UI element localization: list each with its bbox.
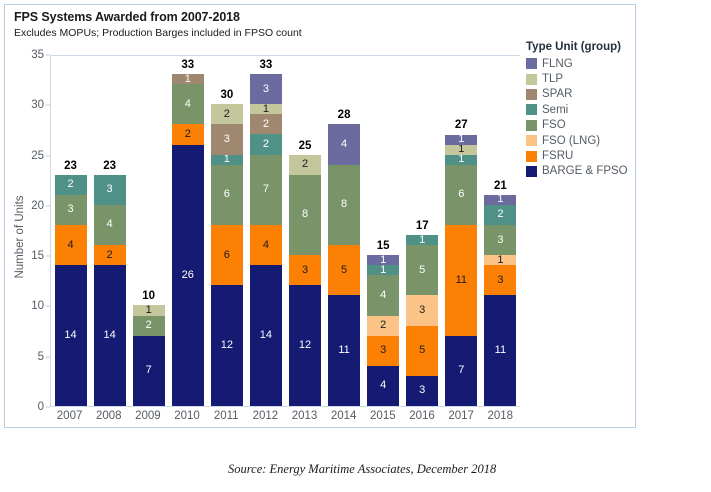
y-axis: Number of Units 05101520253035 [5, 55, 50, 407]
bar-segment[interactable]: 6 [211, 165, 243, 225]
y-axis-tick-label: 25 [31, 150, 44, 162]
bar-segment[interactable]: 3 [406, 295, 438, 325]
bar-segment[interactable]: 1 [445, 135, 477, 145]
bar-total-label: 33 [181, 59, 194, 71]
bar-segment-label: 4 [341, 139, 347, 150]
bar-column[interactable]: 2314243 [94, 56, 126, 406]
bar-stack: 14243 [94, 175, 126, 406]
bar-segment-label: 11 [338, 345, 349, 356]
bar-segment-label: 4 [67, 240, 73, 251]
bar-segment-label: 2 [146, 320, 152, 331]
bar-stack: 721 [133, 305, 165, 406]
bar-segment[interactable]: 4 [367, 275, 399, 315]
bar-segment[interactable]: 5 [406, 326, 438, 376]
bar-segment[interactable]: 3 [55, 195, 87, 225]
bar-segment[interactable]: 4 [250, 225, 282, 265]
bar-segment-label: 3 [302, 265, 308, 276]
legend-item-label: FSO (LNG) [542, 135, 600, 147]
x-axis-tick-label: 2007 [54, 407, 86, 422]
legend-item[interactable]: FSO (LNG) [526, 133, 636, 148]
bar-segment-label: 1 [458, 155, 464, 165]
bar-column[interactable]: 2314432 [55, 56, 87, 406]
bar-segment-label: 1 [185, 74, 191, 84]
bar-segment[interactable]: 4 [328, 124, 360, 164]
legend-item-label: FSRU [542, 150, 573, 162]
x-axis-tick-label: 2009 [132, 407, 164, 422]
bar-segment-label: 12 [221, 340, 233, 351]
bar-segment[interactable]: 14 [94, 265, 126, 406]
bar-segment[interactable]: 7 [250, 155, 282, 225]
bar-segment[interactable]: 2 [289, 155, 321, 175]
bar-segment[interactable]: 12 [289, 285, 321, 406]
legend-swatch-icon [526, 151, 537, 162]
y-axis-tick-label: 15 [31, 250, 44, 262]
x-axis-tick-label: 2008 [93, 407, 125, 422]
bar-stack: 12382 [289, 155, 321, 406]
bar-segment[interactable]: 3 [406, 376, 438, 406]
plot-area: 2314432231424310721332624130126613233144… [50, 55, 520, 407]
legend-item-label: BARGE & FPSO [542, 165, 628, 177]
legend-item-label: FSO [542, 119, 566, 131]
bar-segment-label: 3 [380, 345, 386, 356]
bar-column[interactable]: 2811584 [328, 56, 360, 406]
bar-segment[interactable]: 1 [367, 265, 399, 275]
x-axis-tick-label: 2010 [171, 407, 203, 422]
bar-segment-label: 4 [380, 290, 386, 301]
bar-segment[interactable]: 5 [328, 245, 360, 295]
bar-segment[interactable]: 2 [484, 205, 516, 225]
bar-segment-label: 1 [146, 305, 152, 315]
bar-column[interactable]: 301266132 [211, 56, 243, 406]
bar-segment[interactable]: 1 [406, 235, 438, 245]
bar-segment[interactable]: 1 [484, 255, 516, 265]
y-axis-tick-label: 35 [31, 49, 44, 61]
bar-segment[interactable]: 2 [211, 104, 243, 124]
bar-total-label: 21 [494, 180, 507, 192]
bar-segment-label: 4 [107, 219, 113, 230]
bar-segment-label: 3 [224, 134, 230, 145]
bar-segment[interactable]: 8 [289, 175, 321, 255]
legend-item[interactable]: SPAR [526, 87, 636, 102]
bar-segment-label: 5 [419, 265, 425, 276]
bar-segment[interactable]: 4 [367, 366, 399, 406]
source-note: Source: Energy Maritime Associates, Dece… [228, 462, 496, 477]
bar-segment[interactable]: 2 [172, 124, 204, 144]
bar-stack: 7116111 [445, 134, 477, 406]
chart-container: FPS Systems Awarded from 2007-2018 Exclu… [4, 4, 636, 428]
bar-segment-label: 2 [185, 129, 191, 140]
bar-segment[interactable]: 4 [55, 225, 87, 265]
bar-segment[interactable]: 14 [55, 265, 87, 406]
bar-stack: 1266132 [211, 104, 243, 406]
bar-segment-label: 1 [380, 265, 386, 275]
bar-segment-label: 6 [224, 189, 230, 200]
bar-segment-label: 1 [497, 195, 503, 205]
bar-segment-label: 12 [299, 340, 311, 351]
bar-segment[interactable]: 6 [211, 225, 243, 285]
legend-item-label: TLP [542, 73, 563, 85]
bar-segment-label: 2 [380, 320, 386, 331]
bar-segment-label: 7 [146, 365, 152, 376]
chart-legend: Type Unit (group) FLNGTLPSPARSemiFSOFSO … [526, 41, 636, 179]
bar-total-label: 27 [455, 119, 468, 131]
bar-segment-label: 3 [419, 385, 425, 396]
bar-total-label: 10 [142, 290, 155, 302]
bar-segment-label: 2 [263, 139, 269, 150]
bar-segment[interactable]: 4 [172, 84, 204, 124]
bar-segment-label: 6 [224, 250, 230, 261]
bar-segment-label: 1 [458, 135, 464, 145]
x-axis-tick-label: 2017 [445, 407, 477, 422]
legend-item[interactable]: BARGE & FPSO [526, 164, 636, 179]
bar-segment-label: 6 [458, 189, 464, 200]
x-axis-tick-label: 2016 [406, 407, 438, 422]
bar-segment-label: 1 [419, 235, 425, 245]
bar-segment[interactable]: 11 [328, 295, 360, 406]
bar-segment-label: 2 [263, 119, 269, 130]
x-axis-tick-label: 2014 [328, 407, 360, 422]
bar-segment-label: 14 [64, 330, 76, 341]
y-axis-tick-label: 20 [31, 200, 44, 212]
bar-segment[interactable]: 2 [94, 245, 126, 265]
bar-segment[interactable]: 7 [133, 336, 165, 406]
bar-segment-label: 3 [497, 275, 503, 286]
bar-segment-label: 4 [380, 380, 386, 391]
bar-segment[interactable]: 1 [211, 155, 243, 165]
bar-column[interactable]: 10721 [133, 56, 165, 406]
bar-segment[interactable]: 1 [172, 74, 204, 84]
bar-segment[interactable]: 1 [367, 255, 399, 265]
bar-segment[interactable]: 14 [250, 265, 282, 406]
bar-segment[interactable]: 2 [250, 134, 282, 154]
y-axis-tick-label: 30 [31, 99, 44, 111]
bar-segment[interactable]: 26 [172, 145, 204, 406]
bar-segment[interactable]: 1 [445, 155, 477, 165]
bar-segment-label: 11 [456, 275, 467, 286]
bar-segment[interactable]: 2 [133, 316, 165, 336]
bar-segment-label: 7 [263, 184, 269, 195]
bar-total-label: 23 [103, 160, 116, 172]
bar-segment-label: 1 [224, 155, 230, 165]
bar-segment[interactable]: 2 [55, 175, 87, 195]
x-axis: 2007200820092010201120122013201420152016… [50, 407, 520, 429]
bar-segment[interactable]: 4 [94, 205, 126, 245]
legend-swatch-icon [526, 135, 537, 146]
bar-column[interactable]: 2512382 [289, 56, 321, 406]
bar-segment[interactable]: 8 [328, 165, 360, 245]
legend-items: FLNGTLPSPARSemiFSOFSO (LNG)FSRUBARGE & F… [526, 56, 636, 179]
bar-stack: 11584 [328, 124, 360, 406]
bar-total-label: 23 [64, 160, 77, 172]
legend-swatch-icon [526, 89, 537, 100]
bar-segment-label: 8 [302, 209, 308, 220]
bar-segment-label: 26 [182, 270, 194, 281]
bar-stack: 1131321 [484, 195, 516, 406]
chart-subtitle: Excludes MOPUs; Production Barges includ… [14, 27, 302, 39]
bar-column[interactable]: 15432411 [367, 56, 399, 406]
bar-segment-label: 3 [107, 184, 113, 195]
legend-item[interactable]: FSO [526, 118, 636, 133]
x-axis-tick-label: 2013 [289, 407, 321, 422]
bar-column[interactable]: 211131321 [484, 56, 516, 406]
bar-total-label: 33 [260, 59, 273, 71]
bar-total-label: 15 [377, 240, 390, 252]
legend-title: Type Unit (group) [526, 41, 636, 53]
bar-segment-label: 1 [458, 145, 464, 155]
x-axis-tick-label: 2011 [210, 407, 242, 422]
x-axis-tick-label: 2012 [249, 407, 281, 422]
y-axis-tick-label: 10 [31, 300, 44, 312]
bar-segment[interactable]: 1 [484, 195, 516, 205]
bar-segment-label: 11 [495, 345, 506, 356]
legend-swatch-icon [526, 104, 537, 115]
bar-column[interactable]: 3326241 [172, 56, 204, 406]
bar-segment[interactable]: 5 [406, 245, 438, 295]
bar-segment-label: 1 [380, 255, 386, 265]
bar-segment-label: 3 [419, 305, 425, 316]
bar-segment[interactable]: 1 [133, 305, 165, 315]
bar-column[interactable]: 3314472213 [250, 56, 282, 406]
bar-segment[interactable]: 3 [484, 265, 516, 295]
bar-segment-label: 2 [302, 159, 308, 170]
bar-segment-label: 4 [185, 99, 191, 110]
bar-column[interactable]: 277116111 [445, 56, 477, 406]
bar-segment-label: 7 [458, 365, 464, 376]
bar-total-label: 25 [299, 140, 312, 152]
bar-segment-label: 14 [103, 330, 115, 341]
bars-layer: 2314432231424310721332624130126613233144… [51, 56, 520, 406]
bar-segment-label: 2 [107, 250, 113, 261]
legend-item-label: Semi [542, 104, 568, 116]
legend-item-label: FLNG [542, 58, 573, 70]
bar-segment[interactable]: 12 [211, 285, 243, 406]
y-axis-title: Number of Units [14, 127, 26, 347]
bar-segment-label: 4 [263, 240, 269, 251]
bar-segment[interactable]: 7 [445, 336, 477, 406]
bar-segment-label: 1 [263, 104, 269, 114]
bar-segment-label: 8 [341, 199, 347, 210]
bar-segment[interactable]: 1 [250, 104, 282, 114]
bar-stack: 14472213 [250, 74, 282, 406]
bar-segment-label: 1 [497, 255, 503, 265]
bar-total-label: 30 [220, 89, 233, 101]
bar-segment[interactable]: 2 [250, 114, 282, 134]
bar-segment[interactable]: 3 [94, 175, 126, 205]
legend-item[interactable]: FSRU [526, 148, 636, 163]
legend-item[interactable]: Semi [526, 102, 636, 117]
bar-segment-label: 14 [260, 330, 272, 341]
bar-segment[interactable]: 3 [367, 336, 399, 366]
legend-item[interactable]: FLNG [526, 56, 636, 71]
bar-stack: 26241 [172, 74, 204, 406]
bar-segment-label: 2 [224, 109, 230, 120]
legend-item-label: SPAR [542, 88, 572, 100]
x-axis-tick-label: 2015 [367, 407, 399, 422]
y-axis-tick-label: 0 [38, 401, 44, 413]
bar-segment[interactable]: 3 [211, 124, 243, 154]
bar-segment[interactable]: 11 [484, 295, 516, 406]
legend-swatch-icon [526, 166, 537, 177]
bar-stack: 35351 [406, 235, 438, 406]
bar-segment[interactable]: 2 [367, 316, 399, 336]
legend-swatch-icon [526, 120, 537, 131]
bar-segment[interactable]: 3 [289, 255, 321, 285]
bar-stack: 432411 [367, 255, 399, 406]
bar-segment-label: 3 [67, 204, 73, 215]
legend-swatch-icon [526, 74, 537, 85]
bar-segment[interactable]: 3 [250, 74, 282, 104]
y-axis-tick-label: 5 [38, 351, 44, 363]
bar-segment-label: 2 [67, 179, 73, 190]
bar-segment[interactable]: 11 [445, 225, 477, 336]
legend-swatch-icon [526, 58, 537, 69]
bar-segment-label: 5 [419, 345, 425, 356]
bar-segment-label: 3 [497, 235, 503, 246]
bar-segment-label: 2 [497, 209, 503, 220]
bar-segment[interactable]: 1 [445, 145, 477, 155]
bar-segment-label: 5 [341, 265, 347, 276]
bar-segment[interactable]: 6 [445, 165, 477, 225]
legend-item[interactable]: TLP [526, 71, 636, 86]
x-axis-tick-label: 2018 [484, 407, 516, 422]
bar-segment-label: 3 [263, 84, 269, 95]
chart-title: FPS Systems Awarded from 2007-2018 [14, 10, 240, 24]
bar-segment[interactable]: 3 [484, 225, 516, 255]
bar-stack: 14432 [55, 175, 87, 406]
bar-column[interactable]: 1735351 [406, 56, 438, 406]
bar-total-label: 28 [338, 109, 351, 121]
bar-total-label: 17 [416, 220, 429, 232]
